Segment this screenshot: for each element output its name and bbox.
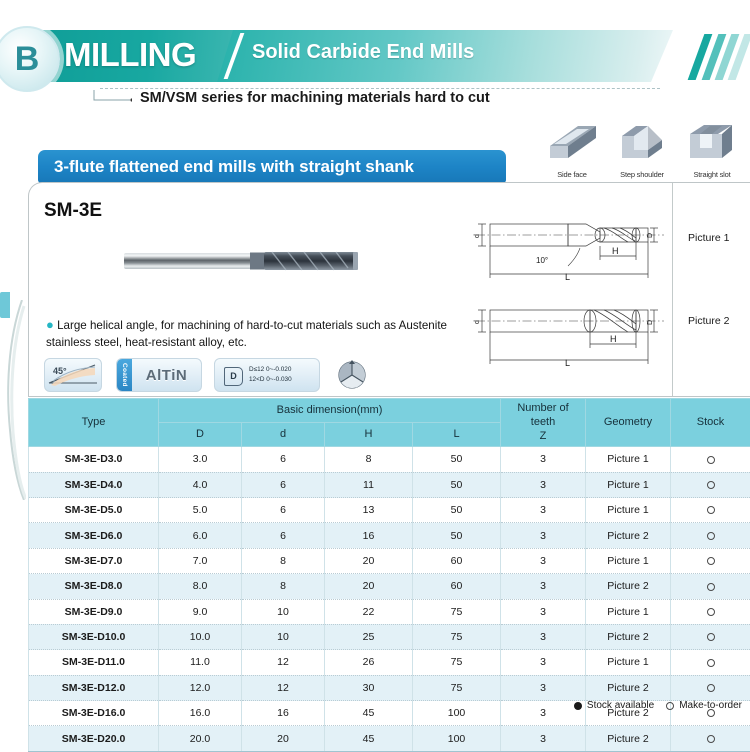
badge-flute-count [332,358,376,392]
badge-helix-angle: 45° [44,358,102,392]
table-header-row-1: Type Basic dimension(mm) Number of teeth… [29,399,750,423]
cell-d: 6 [242,447,325,472]
cell-d: 10 [242,599,325,624]
cell-H: 20 [325,548,413,573]
operation-straight-slot: Straight slot [680,120,744,179]
cell-L: 100 [413,726,501,751]
banner-dotted-rule [100,88,660,89]
cell-geometry: Picture 2 [586,726,671,751]
open-circle-icon [707,532,715,540]
cell-type: SM-3E-D16.0 [29,701,159,726]
cell-D: 10.0 [159,624,242,649]
table-row: SM-3E-D8.08.0820603Picture 2 [29,574,750,599]
cell-H: 45 [325,701,413,726]
cell-stock [671,447,750,472]
cell-teeth: 3 [501,650,586,675]
cell-type: SM-3E-D10.0 [29,624,159,649]
product-title: 3-flute flattened end mills with straigh… [54,157,414,177]
cell-L: 50 [413,523,501,548]
cell-D: 9.0 [159,599,242,624]
cell-D: 12.0 [159,675,242,700]
dim-d-label: d [474,234,481,238]
series-leader-line [92,88,132,108]
step-shoulder-icon [614,120,670,164]
tolerance-line-2: 12<D 0~-0.030 [249,375,292,385]
page-curl-graphic [0,300,26,500]
header-H: H [325,423,413,447]
cell-L: 75 [413,650,501,675]
cell-teeth: 3 [501,701,586,726]
cell-stock [671,624,750,649]
cell-H: 11 [325,472,413,497]
dim-L-label: L [565,272,570,282]
filled-circle-icon [574,702,582,710]
open-circle-icon [707,684,715,692]
cell-type: SM-3E-D4.0 [29,472,159,497]
table-row: SM-3E-D3.03.068503Picture 1 [29,447,750,472]
banner-stripes-decoration [690,34,750,80]
open-circle-icon [707,659,715,667]
cell-geometry: Picture 2 [586,574,671,599]
cell-type: SM-3E-D6.0 [29,523,159,548]
tolerance-values: D≤12 0~-0.020 12<D 0~-0.030 [249,365,292,385]
tolerance-diameter-symbol: D [224,367,243,386]
cell-stock [671,599,750,624]
legend-stock-available: Stock available [574,700,654,711]
cell-geometry: Picture 1 [586,548,671,573]
legend-label: Stock available [587,700,654,711]
cell-stock [671,726,750,751]
cell-type: SM-3E-D12.0 [29,675,159,700]
cell-L: 60 [413,548,501,573]
table-row: SM-3E-D9.09.01022753Picture 1 [29,599,750,624]
cell-stock [671,548,750,573]
header-geometry: Geometry [586,399,671,447]
header-d: d [242,423,325,447]
section-letter-badge: B [0,26,60,92]
cell-H: 22 [325,599,413,624]
header-D: D [159,423,242,447]
cell-L: 75 [413,675,501,700]
cell-d: 6 [242,523,325,548]
cell-stock [671,523,750,548]
table-row: SM-3E-D12.012.01230753Picture 2 [29,675,750,700]
dim-H-label: H [612,246,619,256]
cell-d: 8 [242,574,325,599]
table-row: SM-3E-D11.011.01226753Picture 1 [29,650,750,675]
end-mill-photo [122,248,362,274]
cell-type: SM-3E-D9.0 [29,599,159,624]
cell-d: 10 [242,624,325,649]
helix-angle-value: 45° [53,366,67,376]
open-circle-icon [666,702,674,710]
cell-D: 3.0 [159,447,242,472]
cell-type: SM-3E-D7.0 [29,548,159,573]
cell-H: 20 [325,574,413,599]
cell-stock [671,574,750,599]
operation-step-shoulder: Step shoulder [610,120,674,179]
header-L: L [413,423,501,447]
dim-d-label: d [474,320,481,324]
table-row: SM-3E-D7.07.0820603Picture 1 [29,548,750,573]
cell-H: 45 [325,726,413,751]
banner-category-title: MILLING [64,36,196,74]
dim-D-label: D [647,233,654,238]
cell-teeth: 3 [501,447,586,472]
product-feature: ● Large helical angle, for machining of … [46,316,456,352]
section-letter: B [0,42,58,76]
picture-2-label: Picture 2 [688,315,729,327]
coating-name: AlTiN [132,367,201,384]
dim-D-label: D [647,320,654,325]
cell-d: 12 [242,675,325,700]
cell-stock [671,675,750,700]
operation-side-face: Side face [540,120,604,179]
cell-H: 8 [325,447,413,472]
open-circle-icon [707,481,715,489]
cell-geometry: Picture 1 [586,650,671,675]
taper-angle-label: 10° [536,256,548,265]
cell-D: 8.0 [159,574,242,599]
cell-teeth: 3 [501,599,586,624]
catalog-page: B MILLING Solid Carbide End Mills SM/VSM… [0,0,750,750]
bullet-icon: ● [46,317,54,332]
cell-L: 60 [413,574,501,599]
product-sku: SM-3E [44,200,102,222]
side-face-icon [544,120,600,164]
open-circle-icon [707,735,715,743]
open-circle-icon [707,608,715,616]
cell-stock [671,650,750,675]
cell-D: 20.0 [159,726,242,751]
cell-H: 16 [325,523,413,548]
open-circle-icon [707,506,715,514]
cell-type: SM-3E-D3.0 [29,447,159,472]
technical-drawing-picture-1: d D H L 10° [468,210,673,292]
table-row: SM-3E-D10.010.01025753Picture 2 [29,624,750,649]
cell-d: 6 [242,472,325,497]
table-row: SM-3E-D6.06.0616503Picture 2 [29,523,750,548]
cell-type: SM-3E-D5.0 [29,498,159,523]
cell-D: 11.0 [159,650,242,675]
cell-L: 100 [413,701,501,726]
cell-teeth: 3 [501,675,586,700]
cell-L: 75 [413,624,501,649]
page-banner: B MILLING Solid Carbide End Mills [0,30,750,82]
machining-operations: Side face Step shoulder Straight slot [540,120,750,182]
cell-teeth: 3 [501,472,586,497]
series-note: SM/VSM series for machining materials ha… [140,90,490,106]
cell-D: 5.0 [159,498,242,523]
cell-d: 16 [242,701,325,726]
table-row: SM-3E-D20.020.020451003Picture 2 [29,726,750,751]
operation-label: Side face [540,170,604,179]
cell-geometry: Picture 1 [586,498,671,523]
cell-D: 7.0 [159,548,242,573]
cell-d: 20 [242,726,325,751]
picture-1-label: Picture 1 [688,232,729,244]
cell-teeth: 3 [501,574,586,599]
open-circle-icon [707,557,715,565]
banner-subtitle: Solid Carbide End Mills [252,41,474,64]
table-row: SM-3E-D4.04.0611503Picture 1 [29,472,750,497]
cell-geometry: Picture 2 [586,624,671,649]
product-title-tab: 3-flute flattened end mills with straigh… [38,150,506,183]
header-number-of-teeth: Number of teeth Z [501,399,586,447]
cell-teeth: 3 [501,548,586,573]
header-type: Type [29,399,159,447]
cell-d: 12 [242,650,325,675]
table-row: SM-3E-D5.05.0613503Picture 1 [29,498,750,523]
operation-label: Straight slot [680,170,744,179]
technical-drawing-picture-2: d D H L [468,296,673,376]
operation-label: Step shoulder [610,170,674,179]
cell-L: 50 [413,498,501,523]
coated-strip-label: Coated [117,359,132,391]
cell-geometry: Picture 2 [586,523,671,548]
spec-badges: 45° Coated AlTiN D D≤12 0~-0.020 12<D 0~… [44,358,384,394]
cell-H: 30 [325,675,413,700]
dim-H-label: H [610,334,617,344]
open-circle-icon [707,633,715,641]
cell-type: SM-3E-D11.0 [29,650,159,675]
cell-D: 4.0 [159,472,242,497]
cell-L: 50 [413,472,501,497]
tolerance-line-1: D≤12 0~-0.020 [249,365,292,375]
cell-teeth: 3 [501,726,586,751]
cell-teeth: 3 [501,498,586,523]
open-circle-icon [707,456,715,464]
straight-slot-icon [684,120,740,164]
legend-label: Make-to-order [679,700,742,711]
cell-geometry: Picture 1 [586,472,671,497]
badge-coating: Coated AlTiN [116,358,202,392]
dim-L-label: L [565,358,570,368]
cell-L: 75 [413,599,501,624]
stock-legend: Stock available Make-to-order [574,700,742,711]
cell-geometry: Picture 2 [586,675,671,700]
cell-H: 25 [325,624,413,649]
cell-geometry: Picture 1 [586,599,671,624]
cell-teeth: 3 [501,624,586,649]
specification-table: Type Basic dimension(mm) Number of teeth… [28,398,750,752]
three-flute-icon [332,358,372,392]
legend-make-to-order: Make-to-order [666,700,742,711]
header-stock: Stock [671,399,750,447]
cell-d: 6 [242,498,325,523]
cell-D: 6.0 [159,523,242,548]
cell-type: SM-3E-D20.0 [29,726,159,751]
cell-d: 8 [242,548,325,573]
header-basic-dimension: Basic dimension(mm) [159,399,501,423]
open-circle-icon [707,583,715,591]
cell-H: 26 [325,650,413,675]
cell-H: 13 [325,498,413,523]
feature-text: Large helical angle, for machining of ha… [46,319,447,349]
cell-L: 50 [413,447,501,472]
cell-type: SM-3E-D8.0 [29,574,159,599]
badge-tolerance: D D≤12 0~-0.020 12<D 0~-0.030 [214,358,320,392]
cell-D: 16.0 [159,701,242,726]
cell-teeth: 3 [501,523,586,548]
cell-geometry: Picture 1 [586,447,671,472]
cell-stock [671,498,750,523]
cell-stock [671,472,750,497]
